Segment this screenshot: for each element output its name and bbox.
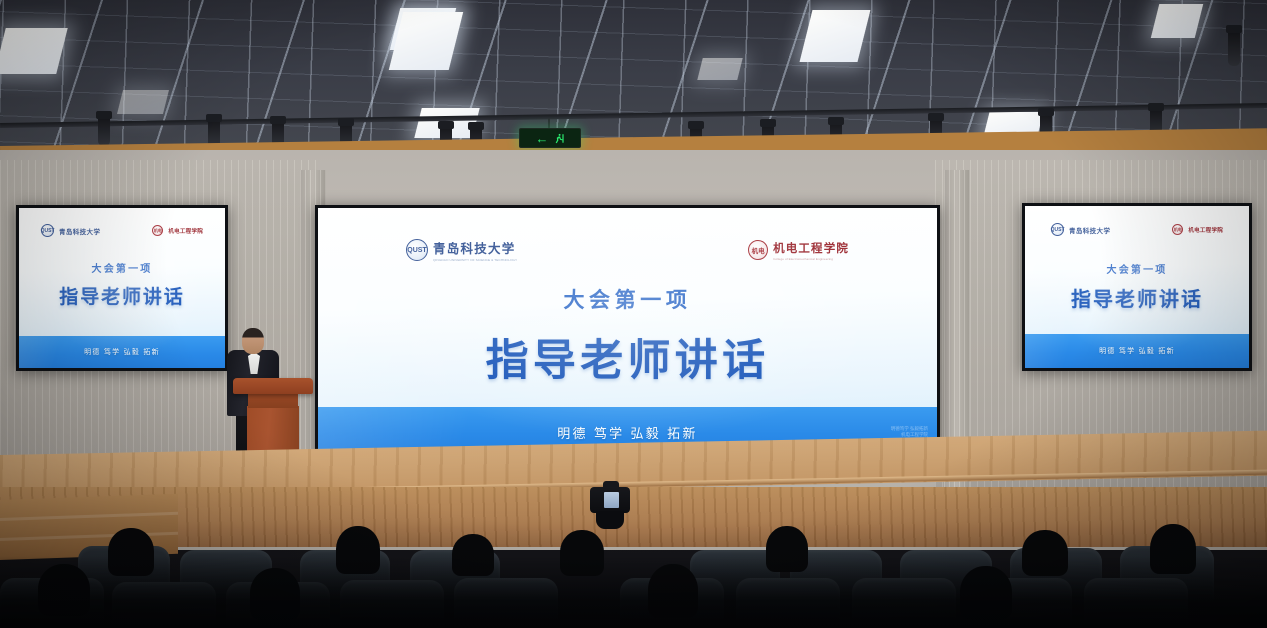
college-logo-right: 机电 机电工程学院 (1172, 224, 1223, 235)
running-person-icon (552, 132, 565, 145)
camera-lcd-screen (604, 492, 619, 508)
emergency-exit-sign: ← (519, 128, 581, 148)
college-crest-icon: 机电 (748, 240, 768, 260)
college-logo: 机电 机电工程学院 College of Electromechanical E… (748, 240, 849, 261)
slide-motto: 明德 笃学 弘毅 拓新 (84, 347, 160, 357)
track-spotlight (1228, 30, 1240, 66)
ceiling-light-panel (117, 90, 169, 114)
audience-member (38, 564, 90, 616)
side-monitor-right[interactable]: QUST 青岛科技大学 机电 机电工程学院 大会第一项 指导老师讲话 明德 笃学 (1022, 203, 1252, 371)
seat (340, 580, 444, 628)
audience-member (648, 564, 698, 618)
college-name-cn: 机电工程学院 (1188, 226, 1223, 234)
ceiling-light-panel (0, 28, 68, 74)
slide-headline: 指导老师讲话 (318, 326, 937, 388)
track-spotlight (98, 116, 110, 146)
main-presentation-screen[interactable]: QUST 青岛科技大学 QINGDAO UNIVERSITY OF SCIENC… (315, 205, 940, 460)
slide-corner-note: 明德笃学 弘毅拓新 机电工程学院 (891, 426, 928, 438)
monitor-left-logos: QUST 青岛科技大学 机电 机电工程学院 (19, 224, 225, 237)
ceiling-light-panel (697, 58, 742, 80)
monitor-right-band: 明德 笃学 弘毅 拓新 (1025, 334, 1249, 368)
university-logo: QUST 青岛科技大学 QINGDAO UNIVERSITY OF SCIENC… (406, 238, 517, 262)
ceiling (0, 0, 1267, 152)
corner-note-line-1: 明德笃学 弘毅拓新 (891, 426, 928, 431)
audience-member (1022, 530, 1068, 576)
ceiling-light-panel (1151, 4, 1203, 38)
monitor-left-band: 明德 笃学 弘毅 拓新 (19, 336, 225, 368)
slide-motto: 明德 笃学 弘毅 拓新 (1099, 346, 1175, 356)
exit-arrow-icon: ← (536, 132, 549, 145)
main-screen-titles: 大会第一项 指导老师讲话 (318, 284, 937, 388)
slide-headline: 指导老师讲话 (1025, 283, 1249, 312)
college-name-cn: 机电工程学院 (168, 227, 203, 235)
audience-member (250, 568, 300, 620)
university-name-en: QINGDAO UNIVERSITY OF SCIENCE & TECHNOLO… (433, 258, 517, 262)
monitor-right-logos: QUST 青岛科技大学 机电 机电工程学院 (1025, 223, 1249, 236)
college-crest-icon: 机电 (152, 225, 163, 236)
college-name-en: College of Electromechanical Engineering (773, 257, 849, 261)
university-logo-left: QUST 青岛科技大学 (41, 224, 100, 237)
main-screen-logos: QUST 青岛科技大学 QINGDAO UNIVERSITY OF SCIENC… (318, 238, 937, 262)
monitor-right-titles: 大会第一项 指导老师讲话 (1025, 261, 1249, 312)
audience-area (0, 520, 1267, 628)
audience-member (336, 526, 380, 574)
seat (112, 582, 216, 628)
seat (736, 578, 840, 628)
seat (454, 578, 558, 628)
monitor-left-titles: 大会第一项 指导老师讲话 (19, 260, 225, 309)
ceiling-diagonal-rails (0, 0, 1267, 152)
main-screen-display: QUST 青岛科技大学 QINGDAO UNIVERSITY OF SCIENC… (318, 208, 937, 457)
university-name-cn: 青岛科技大学 (59, 226, 100, 236)
college-logo-left: 机电 机电工程学院 (152, 225, 203, 236)
slide-motto: 明德 笃学 弘毅 拓新 (557, 423, 698, 442)
university-name-cn: 青岛科技大学 (433, 238, 517, 257)
seat (1084, 578, 1188, 628)
podium-neck (248, 392, 298, 408)
seat (852, 578, 956, 628)
college-name-cn: 机电工程学院 (773, 240, 849, 256)
speaker-head (242, 328, 264, 354)
qust-crest-icon: QUST (41, 224, 54, 237)
slide-kicker: 大会第一项 (318, 284, 937, 314)
audience-member (108, 528, 154, 576)
audience-member (1150, 524, 1196, 574)
side-monitor-right-display: QUST 青岛科技大学 机电 机电工程学院 大会第一项 指导老师讲话 明德 笃学 (1025, 206, 1249, 368)
auditorium-scene: ← QUST 青岛科技大学 机电 机电工程学院 (0, 0, 1267, 628)
qust-crest-icon: QUST (406, 239, 428, 261)
audience-member (560, 530, 604, 576)
slide-kicker: 大会第一项 (19, 260, 225, 275)
audience-member (452, 534, 494, 576)
side-monitor-left[interactable]: QUST 青岛科技大学 机电 机电工程学院 大会第一项 指导老师讲话 明德 笃学 (16, 205, 228, 371)
audience-member (766, 526, 808, 572)
audience-member (960, 566, 1012, 620)
side-monitor-left-display: QUST 青岛科技大学 机电 机电工程学院 大会第一项 指导老师讲话 明德 笃学 (19, 208, 225, 368)
qust-crest-icon: QUST (1051, 223, 1064, 236)
college-crest-icon: 机电 (1172, 224, 1183, 235)
university-logo-right: QUST 青岛科技大学 (1051, 223, 1110, 236)
university-name-cn: 青岛科技大学 (1069, 225, 1110, 235)
slide-headline: 指导老师讲话 (19, 282, 225, 309)
podium-lectern-top (233, 378, 313, 394)
slide-kicker: 大会第一项 (1025, 261, 1249, 276)
